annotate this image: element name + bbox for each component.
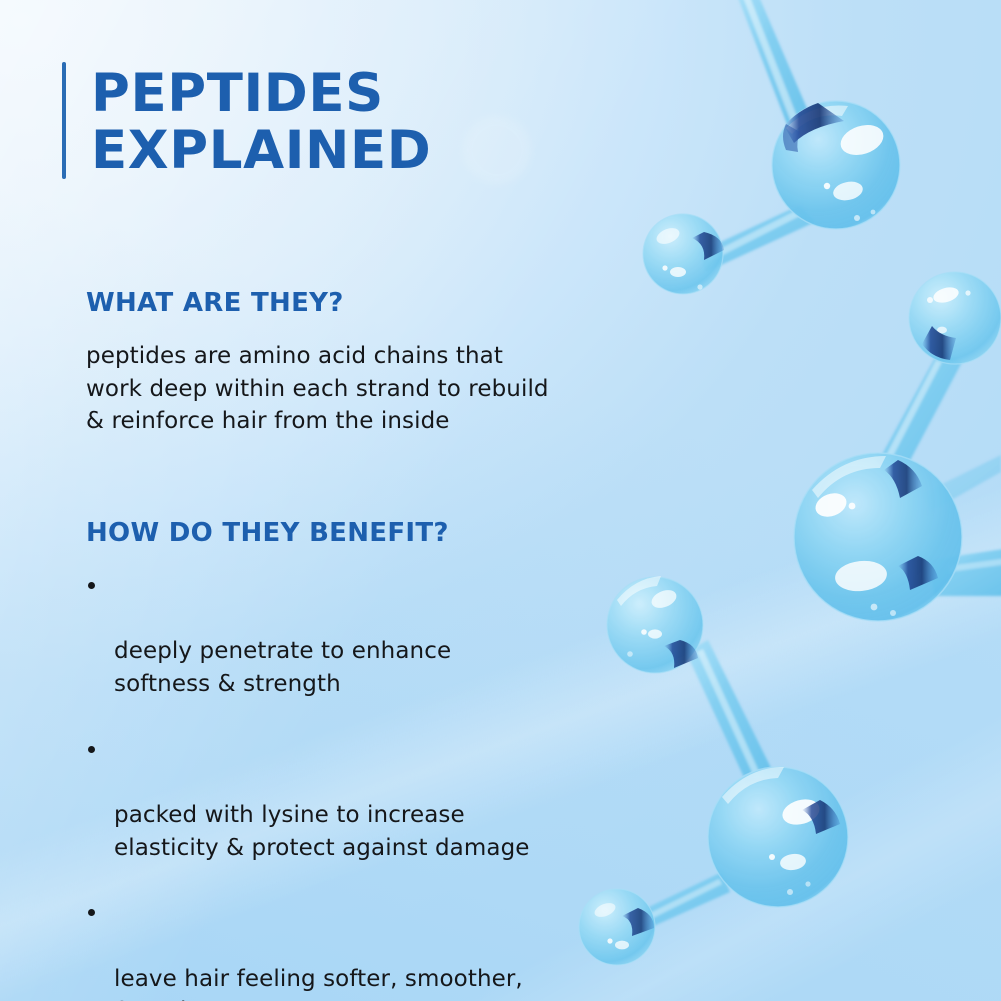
page-title: PEPTIDES EXPLAINED <box>91 62 431 179</box>
benefit-bullet-list: deeply penetrate to enhance softness & s… <box>86 570 631 1001</box>
title-accent-rule <box>62 62 66 179</box>
section-heading-how-do-they-benefit: HOW DO THEY BENEFIT? <box>86 518 631 548</box>
list-item-label: leave hair feeling softer, smoother, & e… <box>114 966 523 1001</box>
list-item-label: packed with lysine to increase elasticit… <box>114 802 530 861</box>
list-item: packed with lysine to increase elasticit… <box>86 734 631 865</box>
list-item: leave hair feeling softer, smoother, & e… <box>86 897 631 1001</box>
text-column: PEPTIDES EXPLAINED WHAT ARE THEY? peptid… <box>0 0 640 1001</box>
section-what-are-they: WHAT ARE THEY? peptides are amino acid c… <box>86 288 631 438</box>
bullet-dot-icon <box>88 746 95 753</box>
list-item: deeply penetrate to enhance softness & s… <box>86 570 631 701</box>
list-item-label: deeply penetrate to enhance softness & s… <box>114 638 451 697</box>
bullet-dot-icon <box>88 582 95 589</box>
section-heading-what-are-they: WHAT ARE THEY? <box>86 288 631 318</box>
section-paragraph-what-are-they: peptides are amino acid chains that work… <box>86 340 631 438</box>
page-title-block: PEPTIDES EXPLAINED <box>62 62 431 179</box>
infographic-canvas: PEPTIDES EXPLAINED WHAT ARE THEY? peptid… <box>0 0 1001 1001</box>
section-how-do-they-benefit: HOW DO THEY BENEFIT? deeply penetrate to… <box>86 518 631 1001</box>
bullet-dot-icon <box>88 909 95 916</box>
